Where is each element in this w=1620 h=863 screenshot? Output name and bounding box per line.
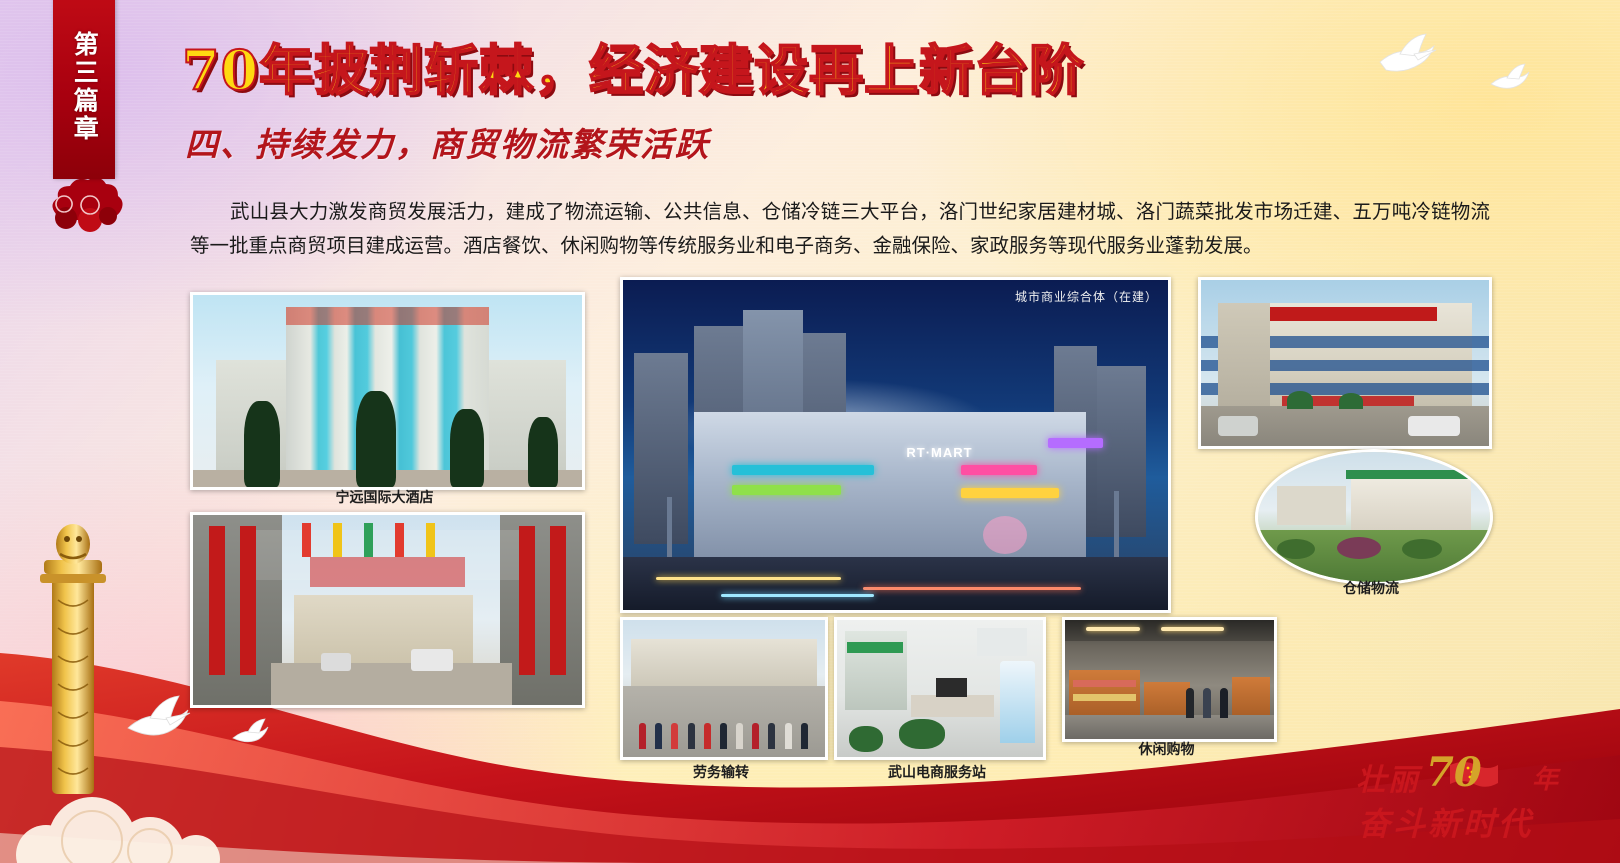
dove-icon-bottom-left-small bbox=[228, 716, 274, 752]
dove-icon-top-right-small bbox=[1485, 60, 1537, 100]
photo-market-gate bbox=[190, 512, 585, 708]
anniversary-logo: 壮丽 70 年 奋斗新时代 bbox=[1356, 753, 1592, 845]
photo-labor-transfer bbox=[620, 617, 828, 760]
logo-line1: 壮丽 bbox=[1356, 755, 1420, 799]
photo-ecommerce-center bbox=[1198, 277, 1492, 449]
mall-brand-label: RT·MART bbox=[906, 445, 972, 460]
logo-nian: 年 bbox=[1532, 759, 1558, 796]
caption-hotel: 宁远国际大酒店 bbox=[190, 487, 579, 507]
page-title: 70年披荆斩棘，经济建设再上新台阶 bbox=[182, 26, 1084, 105]
caption-ecommerce-station: 武山电商服务站 bbox=[834, 762, 1040, 782]
section-subtitle: 四、持续发力，商贸物流繁荣活跃 bbox=[185, 118, 710, 166]
poster-canvas: 第三篇章 70年披荆斩棘，经济建设再上新台阶 四、持续发力，商贸物流繁荣活跃 武… bbox=[0, 0, 1620, 863]
caption-labor-transfer: 劳务输转 bbox=[620, 762, 822, 782]
photo-shopping bbox=[1062, 617, 1277, 742]
logo-line2: 奋斗新时代 bbox=[1358, 799, 1533, 845]
photo-hotel bbox=[190, 292, 585, 490]
caption-shopping: 休闲购物 bbox=[1062, 739, 1271, 759]
photo-logistics bbox=[1255, 449, 1493, 585]
caption-logistics: 仓储物流 bbox=[1255, 578, 1487, 598]
chapter-banner: 第三篇章 bbox=[53, 0, 115, 179]
chapter-banner-label: 第三篇章 bbox=[69, 31, 100, 143]
photo-commercial-complex: RT·MART 城市商业综合体（在建） bbox=[620, 277, 1171, 613]
golden-pillar-ornament bbox=[30, 508, 116, 808]
dove-icon-bottom-left bbox=[118, 690, 200, 752]
body-paragraph: 武山县大力激发商贸发展活力，建成了物流运输、公共信息、仓储冷链三大平台，洛门世纪… bbox=[190, 195, 1490, 263]
overlay-label-complex: 城市商业综合体（在建） bbox=[1015, 288, 1158, 305]
dove-icon-top-right bbox=[1370, 28, 1448, 86]
logo-number: 70 bbox=[1426, 749, 1482, 796]
photo-ecommerce-station bbox=[834, 617, 1046, 760]
